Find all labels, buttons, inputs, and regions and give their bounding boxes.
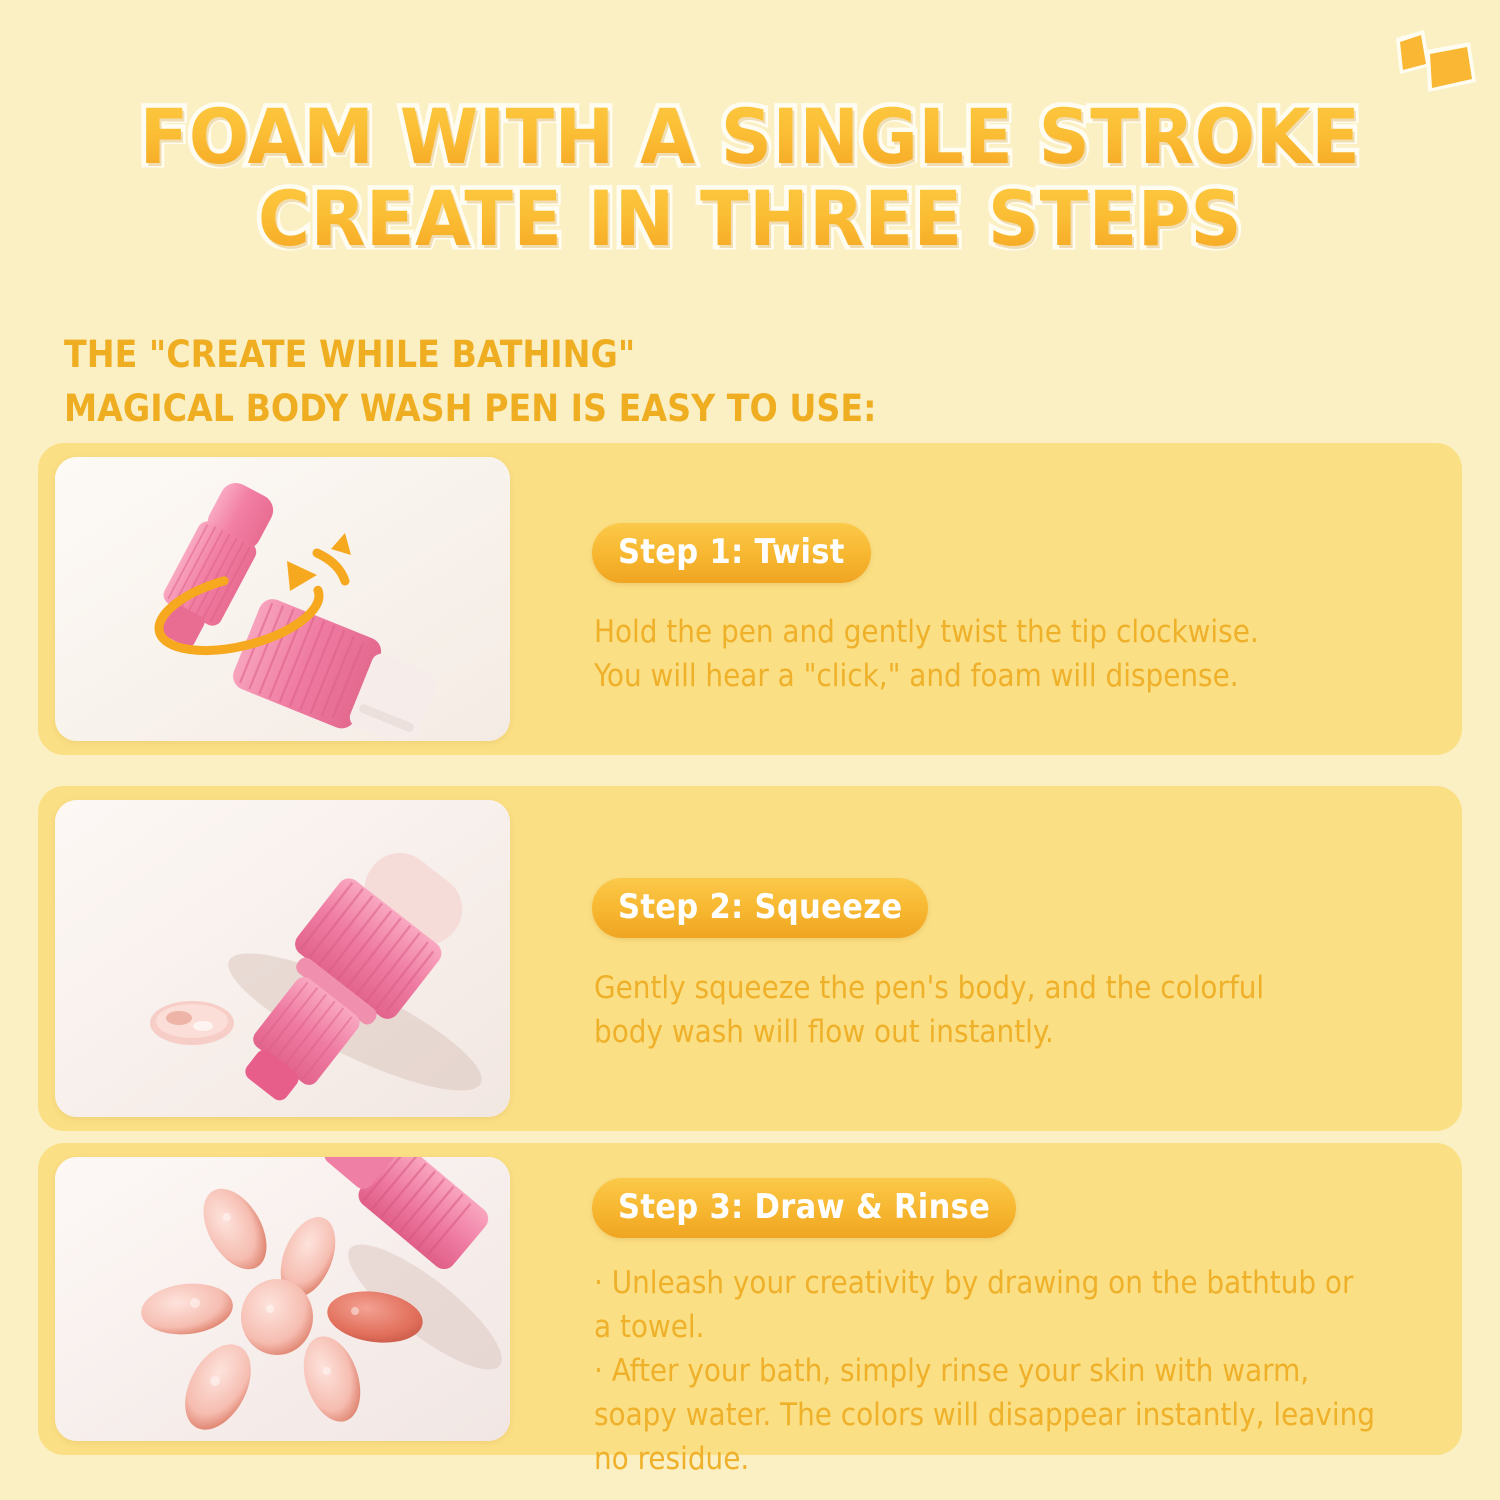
- subtitle-line-2: MAGICAL BODY WASH PEN IS EASY TO USE:: [64, 382, 1264, 436]
- step-1-desc-line-1: Hold the pen and gently twist the tip cl…: [594, 610, 1438, 654]
- pen-draw-photo: [55, 1157, 510, 1441]
- step-2-desc-line-1: Gently squeeze the pen's body, and the c…: [594, 966, 1438, 1010]
- subtitle: THE "CREATE WHILE BATHING" MAGICAL BODY …: [64, 328, 1264, 435]
- step-3-desc-line-2: a towel.: [594, 1305, 1438, 1349]
- step-3-desc-line-5: no residue.: [594, 1437, 1438, 1481]
- headline-line-1-fill: FOAM WITH A SINGLE STROKE: [0, 96, 1500, 178]
- page-title: FOAM WITH A SINGLE STROKE FOAM WITH A SI…: [0, 96, 1500, 260]
- pen-twist-photo: [55, 457, 510, 741]
- step-1-pill: Step 1: Twist: [592, 523, 871, 583]
- step-3-body: Step 3: Draw & Rinse · Unleash your crea…: [554, 1143, 1438, 1455]
- step-3-desc-line-1: · Unleash your creativity by drawing on …: [594, 1261, 1438, 1305]
- subtitle-line-1: THE "CREATE WHILE BATHING": [64, 328, 1264, 382]
- step-2-desc-line-2: body wash will flow out instantly.: [594, 1010, 1438, 1054]
- step-3-description: · Unleash your creativity by drawing on …: [594, 1261, 1438, 1481]
- step-2-body: Step 2: Squeeze Gently squeeze the pen's…: [554, 786, 1438, 1131]
- headline-line-1: FOAM WITH A SINGLE STROKE FOAM WITH A SI…: [0, 96, 1500, 178]
- step-card-2: Step 2: Squeeze Gently squeeze the pen's…: [38, 786, 1462, 1131]
- headline-line-2-fill: CREATE IN THREE STEPS: [0, 178, 1500, 260]
- step-3-pill: Step 3: Draw & Rinse: [592, 1178, 1016, 1238]
- step-1-description: Hold the pen and gently twist the tip cl…: [594, 610, 1438, 698]
- step-card-1: Step 1: Twist Hold the pen and gently tw…: [38, 443, 1462, 755]
- step-2-description: Gently squeeze the pen's body, and the c…: [594, 966, 1438, 1054]
- step-1-body: Step 1: Twist Hold the pen and gently tw…: [554, 443, 1438, 755]
- step-1-desc-line-2: You will hear a "click," and foam will d…: [594, 654, 1438, 698]
- step-card-3: Step 3: Draw & Rinse · Unleash your crea…: [38, 1143, 1462, 1455]
- step-3-desc-line-3: · After your bath, simply rinse your ski…: [594, 1349, 1438, 1393]
- step-2-pill: Step 2: Squeeze: [592, 878, 928, 938]
- step-3-desc-line-4: soapy water. The colors will disappear i…: [594, 1393, 1438, 1437]
- headline-line-2: CREATE IN THREE STEPS CREATE IN THREE ST…: [0, 178, 1500, 260]
- pen-squeeze-photo: [55, 800, 510, 1117]
